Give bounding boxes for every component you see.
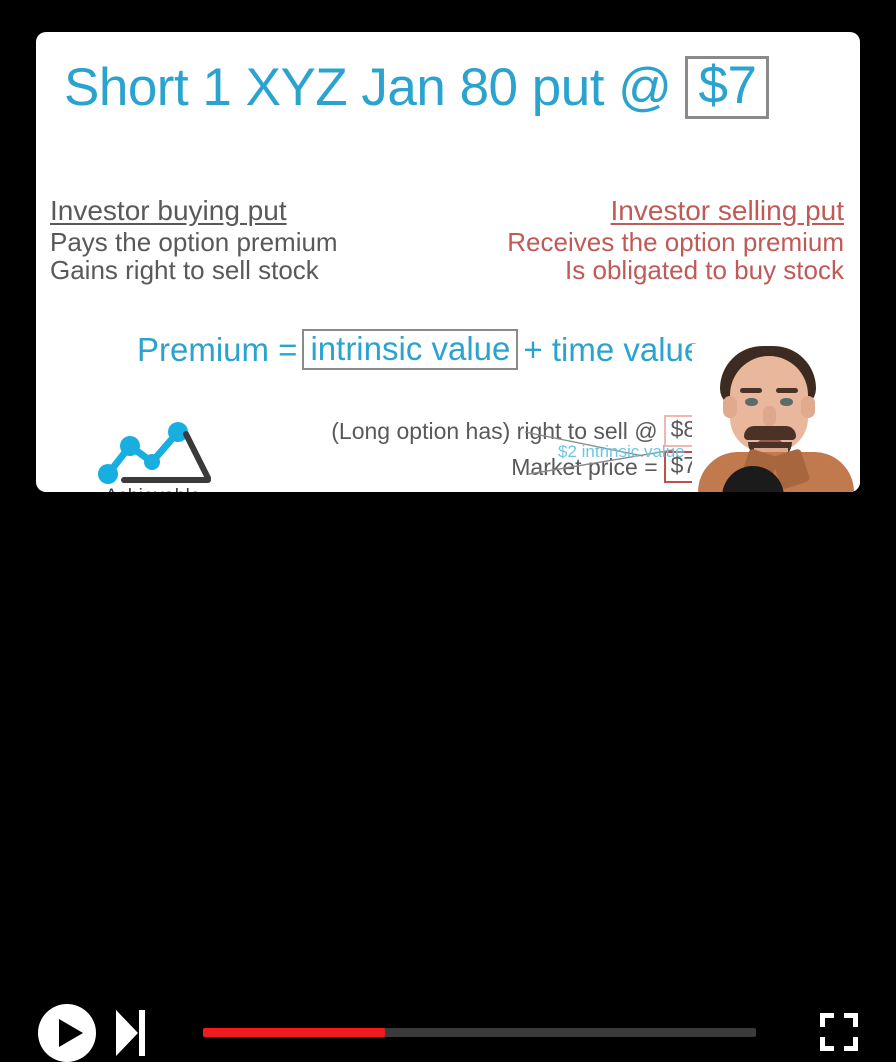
play-button[interactable] [38,1004,96,1062]
title-price-box: $7 [685,56,769,119]
column-buy-heading: Investor buying put [50,196,338,226]
column-sell-line-1: Receives the option premium [507,228,844,256]
column-buy-line-2: Gains right to sell stock [50,256,338,284]
intrinsic-value-annotation: $2 intrinsic value [558,442,685,462]
next-icon-bar [139,1010,145,1056]
achievable-logo: Achievable [90,418,216,492]
column-investor-buying-put: Investor buying put Pays the option prem… [50,196,338,284]
column-sell-line-2: Is obligated to buy stock [507,256,844,284]
slide-canvas: Short 1 XYZ Jan 80 put @ $7 Investor buy… [36,32,860,492]
slide-title-text: Short 1 XYZ Jan 80 put @ [64,57,671,118]
intrinsic-value-box: intrinsic value [302,329,518,370]
player-controls-bar [0,492,896,603]
example-strike-label: (Long option has) right to sell @ [331,418,657,445]
video-player: Short 1 XYZ Jan 80 put @ $7 Investor buy… [0,0,896,603]
premium-formula: Premium = intrinsic value + time value [134,329,705,370]
column-buy-line-1: Pays the option premium [50,228,338,256]
column-investor-selling-put: Investor selling put Receives the option… [507,196,844,284]
fullscreen-icon[interactable] [820,1013,858,1051]
next-icon [116,1010,138,1056]
premium-formula-left: Premium = [134,331,300,369]
premium-formula-right: + time value [520,331,705,369]
achievable-logo-mark [90,418,216,488]
presenter-webcam [692,344,860,492]
presenter-mustache [744,426,796,440]
progress-scrubber[interactable] [203,1028,756,1037]
play-icon [59,1019,83,1047]
slide-title: Short 1 XYZ Jan 80 put @ $7 [64,56,769,119]
next-track-button[interactable] [116,1010,150,1056]
progress-fill [203,1028,385,1037]
column-sell-heading: Investor selling put [507,196,844,226]
